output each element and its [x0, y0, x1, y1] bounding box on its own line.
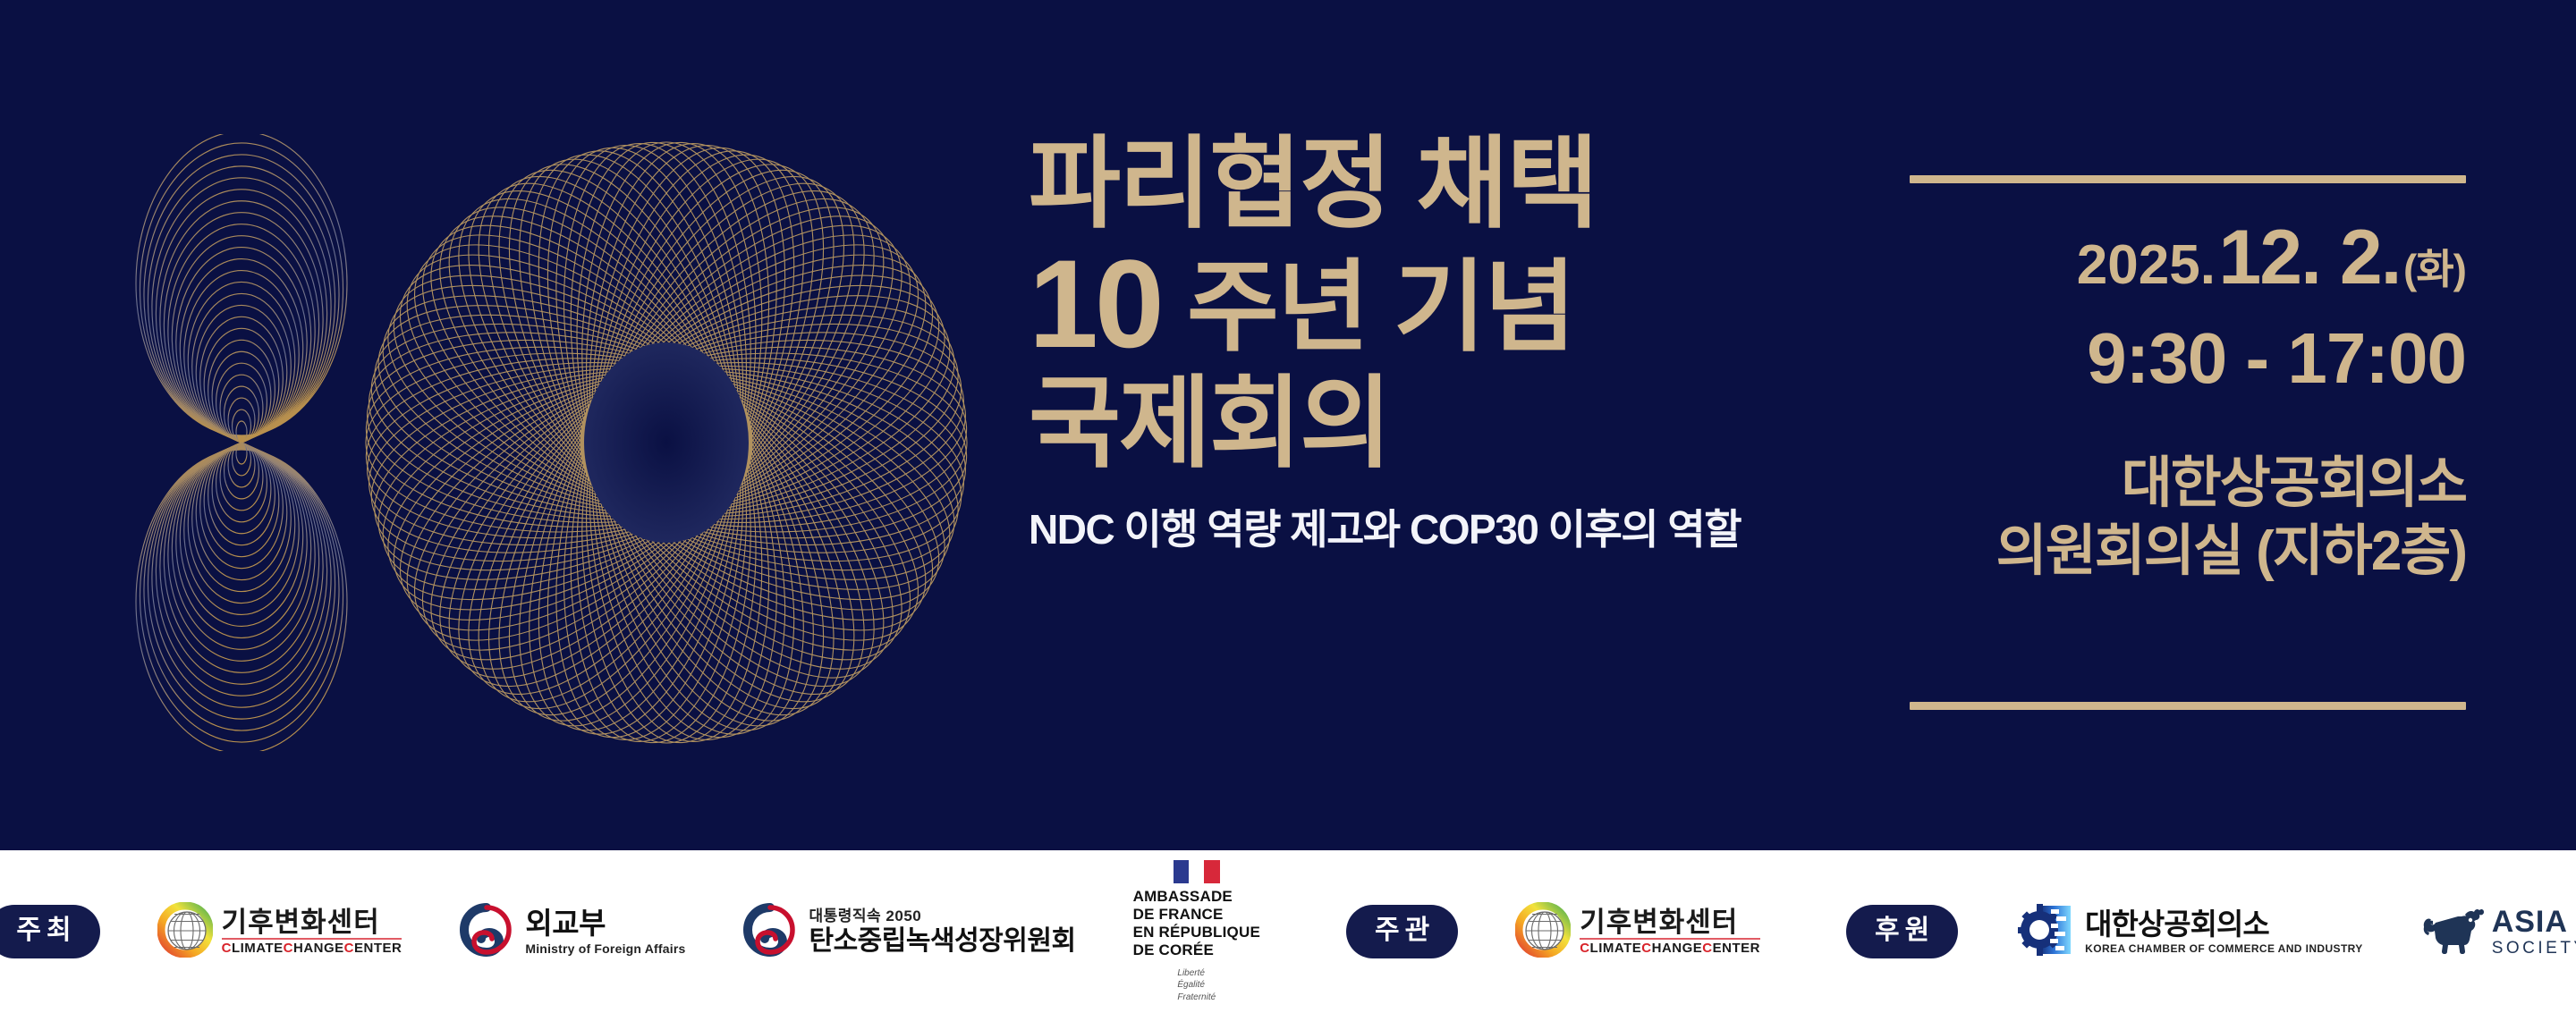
logo-ministry-of-foreign-affairs: 외교부 Ministry of Foreign Affairs	[459, 902, 685, 962]
ccc-english-name: CLIMATECHANGECENTER	[1580, 941, 1760, 955]
cnc-korean-name: 탄소중립녹색성장위원회	[809, 928, 1075, 955]
motto-egalite: Égalité	[1177, 980, 1205, 990]
venue-line-2: 의원회의실 (지하2층)	[1910, 518, 2466, 586]
bottom-divider-rule	[1910, 702, 2466, 710]
logo-asia-society: ASIA SOCIETY	[2420, 904, 2576, 960]
hero-section: 파리협정 채택 10 주년 기념 국제회의 NDC 이행 역량 제고와 COP3…	[0, 0, 2576, 850]
event-venue: 대한상공회의소 의원회의실 (지하2층)	[1910, 450, 2466, 585]
title-line-2: 10 주년 기념	[1029, 241, 1878, 367]
logo-korea-chamber-of-commerce: 대한상공회의소 KOREA CHAMBER OF COMMERCE AND IN…	[2015, 902, 2363, 962]
badge-organizer: 주관	[1346, 905, 1458, 958]
france-motto: Liberté Égalité Fraternité	[1177, 967, 1216, 1004]
logo-ambassade-de-france: AMBASSADE DE FRANCE EN RÉPUBLIQUE DE COR…	[1133, 860, 1260, 1004]
venue-line-1: 대한상공회의소	[1910, 450, 2466, 518]
title-block: 파리협정 채택 10 주년 기념 국제회의 NDC 이행 역량 제고와 COP3…	[1029, 134, 1878, 742]
france-name: AMBASSADE DE FRANCE EN RÉPUBLIQUE DE COR…	[1133, 888, 1260, 959]
event-time: 9:30 - 17:00	[1910, 323, 2466, 394]
motto-liberte: Liberté	[1177, 968, 1205, 978]
ccc-rule	[1580, 938, 1760, 940]
cnc-tagline: 대통령직속 2050	[809, 908, 1075, 924]
badge-sponsor: 후원	[1846, 905, 1958, 958]
event-info-block: 2025. 12. 2. (화) 9:30 - 17:00 대한상공회의소 의원…	[1910, 175, 2466, 712]
event-day-of-week: (화)	[2403, 246, 2466, 292]
asia-society-line-2: SOCIETY	[2492, 940, 2576, 957]
footer-group-organizer: 주관	[1346, 902, 1760, 962]
event-subtitle: NDC 이행 역량 제고와 COP30 이후의 역할	[1029, 497, 1878, 556]
france-line-1: AMBASSADE	[1133, 888, 1233, 905]
sponsor-footer: 주최	[0, 850, 2576, 1013]
logo-carbon-neutrality-committee: 대통령직속 2050 탄소중립녹색성장위원회	[742, 902, 1075, 962]
anniversary-number: 10	[1029, 233, 1161, 374]
badge-host: 주최	[0, 905, 100, 958]
top-divider-rule	[1910, 175, 2466, 183]
footer-group-sponsor: 후원	[1846, 902, 2576, 962]
motto-fraternite: Fraternité	[1177, 992, 1216, 1002]
france-line-4: DE CORÉE	[1133, 941, 1214, 958]
kcci-english-name: KOREA CHAMBER OF COMMERCE AND INDUSTRY	[2085, 943, 2363, 954]
france-line-3: EN RÉPUBLIQUE	[1133, 924, 1260, 941]
title-line-3: 국제회의	[1029, 374, 1878, 474]
anniversary-label: 주년 기념	[1161, 251, 1574, 363]
taegeuk-icon	[459, 902, 514, 962]
globe-icon	[157, 902, 213, 962]
taegeuk-icon	[742, 902, 798, 962]
ccc-korean-name: 기후변화센터	[222, 908, 402, 936]
ccc-korean-name: 기후변화센터	[1580, 908, 1760, 936]
logo-climate-change-center: 기후변화센터 CLIMATECHANGECENTER	[157, 902, 402, 962]
spirograph-10-decoration	[94, 89, 988, 787]
mofa-korean-name: 외교부	[525, 908, 685, 938]
event-date-row: 2025. 12. 2. (화)	[1910, 219, 2466, 296]
france-line-2: DE FRANCE	[1133, 906, 1224, 923]
french-flag-icon	[1174, 860, 1220, 883]
asia-society-line-1: ASIA	[2492, 907, 2576, 937]
event-year: 2025.	[2077, 234, 2216, 296]
logo-climate-change-center: 기후변화센터 CLIMATECHANGECENTER	[1515, 902, 1760, 962]
ccc-rule	[222, 938, 402, 940]
kcci-korean-name: 대한상공회의소	[2085, 909, 2363, 939]
lion-icon	[2420, 904, 2485, 960]
gear-icon	[2015, 902, 2074, 962]
ccc-english-name: CLIMATECHANGECENTER	[222, 941, 402, 955]
event-banner: 파리협정 채택 10 주년 기념 국제회의 NDC 이행 역량 제고와 COP3…	[0, 0, 2576, 1013]
title-line-1: 파리협정 채택	[1029, 134, 1878, 234]
event-month-day: 12. 2.	[2218, 215, 2400, 300]
footer-group-host: 주최	[0, 860, 1260, 1004]
mofa-english-name: Ministry of Foreign Affairs	[525, 942, 685, 955]
globe-icon	[1515, 902, 1571, 962]
